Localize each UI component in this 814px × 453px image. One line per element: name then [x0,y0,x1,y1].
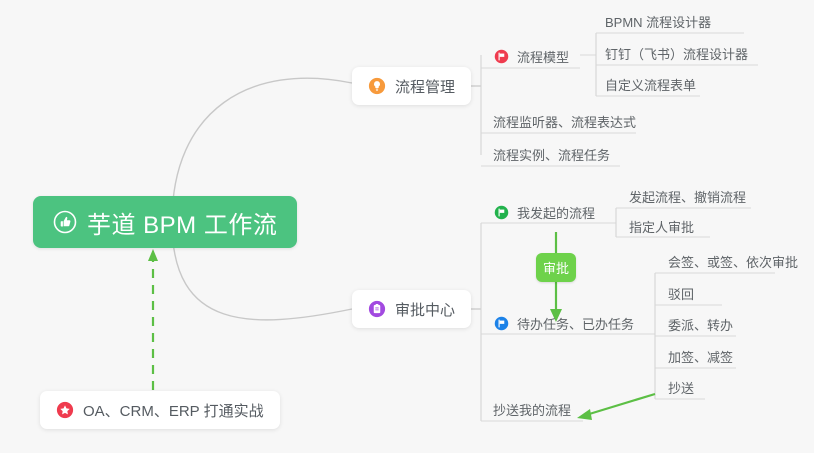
node-carbon-copy[interactable]: 抄送 [664,375,698,399]
node-process-model-label: 流程模型 [517,47,569,66]
node-process-model[interactable]: 流程模型 [490,44,573,68]
node-add-remove-sign[interactable]: 加签、减签 [664,344,737,368]
node-oa-crm-erp-integration-label: OA、CRM、ERP 打通实战 [83,400,264,421]
node-countersign-or-sequence-label: 会签、或签、依次审批 [668,252,798,271]
branch-approval-center[interactable]: 审批中心 [352,290,471,328]
node-delegate-transfer-label: 委派、转办 [668,315,733,334]
star-icon [56,401,74,419]
node-carbon-copy-label: 抄送 [668,378,694,397]
lightbulb-icon [368,77,386,95]
node-todo-done-task-label: 待办任务、已办任务 [517,314,634,333]
node-instance-task-label: 流程实例、流程任务 [493,145,610,164]
node-todo-done-task[interactable]: 待办任务、已办任务 [490,311,638,335]
mindmap-canvas: 芋道 BPM 工作流 流程管理 流程模型 BPMN 流程设计器 钉钉（飞书 [0,0,814,453]
flag-icon [494,316,509,331]
node-reject[interactable]: 驳回 [664,281,698,305]
root-node-label: 芋道 BPM 工作流 [87,205,277,240]
node-start-cancel-process[interactable]: 发起流程、撤销流程 [625,184,750,208]
node-cc-to-me-process-label: 抄送我的流程 [493,400,571,419]
node-assignee-approval-label: 指定人审批 [629,217,694,236]
branch-process-management[interactable]: 流程管理 [352,67,471,105]
thumbs-up-icon [53,210,77,234]
clipboard-icon [368,300,386,318]
node-listener-expression-label: 流程监听器、流程表达式 [493,112,636,131]
node-listener-expression[interactable]: 流程监听器、流程表达式 [489,109,640,133]
node-custom-process-form[interactable]: 自定义流程表单 [601,72,700,96]
node-countersign-or-sequence[interactable]: 会签、或签、依次审批 [664,249,802,273]
node-assignee-approval[interactable]: 指定人审批 [625,214,698,238]
node-custom-process-form-label: 自定义流程表单 [605,75,696,94]
node-cc-to-me-process[interactable]: 抄送我的流程 [489,397,575,421]
node-instance-task[interactable]: 流程实例、流程任务 [489,142,614,166]
node-start-cancel-process-label: 发起流程、撤销流程 [629,187,746,206]
branch-process-management-label: 流程管理 [395,76,455,97]
node-delegate-transfer[interactable]: 委派、转办 [664,312,737,336]
node-dingtalk-feishu-designer[interactable]: 钉钉（飞书）流程设计器 [601,41,752,65]
root-node[interactable]: 芋道 BPM 工作流 [33,196,297,248]
node-my-started-process[interactable]: 我发起的流程 [490,200,599,224]
flag-icon [494,49,509,64]
flag-icon [494,205,509,220]
node-oa-crm-erp-integration[interactable]: OA、CRM、ERP 打通实战 [40,391,280,429]
node-add-remove-sign-label: 加签、减签 [668,347,733,366]
approval-annotation-label: 审批 [543,258,569,277]
node-reject-label: 驳回 [668,284,694,303]
node-my-started-process-label: 我发起的流程 [517,203,595,222]
node-bpmn-designer[interactable]: BPMN 流程设计器 [601,9,715,33]
branch-approval-center-label: 审批中心 [395,299,455,320]
node-dingtalk-feishu-designer-label: 钉钉（飞书）流程设计器 [605,44,748,63]
approval-annotation-box: 审批 [536,253,576,282]
node-bpmn-designer-label: BPMN 流程设计器 [605,12,711,31]
